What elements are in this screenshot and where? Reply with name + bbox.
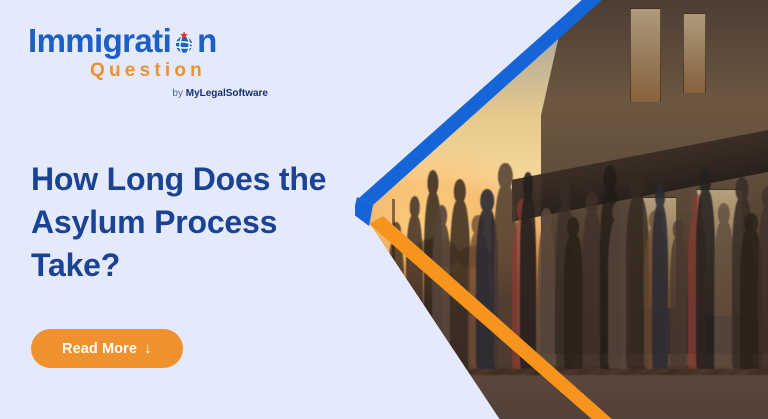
person-silhouette — [582, 212, 602, 369]
content-column: Immigrati n Question by MyLegalSoftware … — [0, 0, 355, 419]
site-logo[interactable]: Immigrati n Question by MyLegalSoftware — [28, 24, 268, 99]
logo-subword: Question — [90, 61, 268, 80]
person-silhouette — [670, 237, 687, 369]
building-window — [683, 13, 706, 95]
crowd-of-people — [355, 159, 768, 369]
page-title: How Long Does the Asylum Process Take? — [31, 158, 331, 286]
person-silhouette — [696, 191, 715, 369]
article-promo-banner: Immigrati n Question by MyLegalSoftware … — [0, 0, 768, 419]
logo-byline-prefix: by — [172, 88, 185, 99]
read-more-label: Read More — [62, 341, 137, 357]
person-silhouette — [564, 235, 583, 369]
arrow-down-icon: ↓ — [144, 340, 152, 357]
globe-icon — [172, 27, 196, 51]
person-silhouette — [406, 216, 423, 369]
logo-byline-brand: MyLegalSoftware — [186, 88, 268, 99]
logo-byline: by MyLegalSoftware — [28, 89, 268, 99]
hero-photo-image — [355, 0, 768, 419]
person-silhouette — [520, 195, 536, 369]
person-silhouette — [450, 201, 470, 369]
person-silhouette — [432, 224, 451, 369]
hero-photo — [355, 0, 768, 419]
person-silhouette — [538, 226, 555, 368]
read-more-button[interactable]: Read More ↓ — [31, 329, 183, 368]
logo-word-part-1: Immigrati — [28, 22, 171, 59]
person-silhouette — [652, 205, 668, 368]
person-silhouette — [714, 222, 734, 369]
logo-word-part-2: n — [197, 22, 217, 59]
building-window — [630, 8, 661, 102]
person-silhouette — [758, 207, 768, 368]
logo-wordmark: Immigrati n — [28, 24, 268, 57]
person-silhouette — [388, 239, 404, 369]
